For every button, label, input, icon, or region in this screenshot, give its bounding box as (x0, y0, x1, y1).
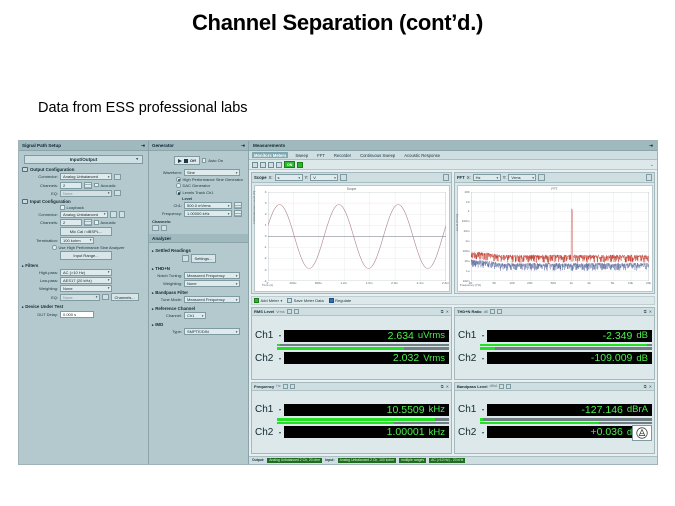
bandpass-filter-group: Bandpass Filter (152, 290, 245, 295)
fft-x-unit-select[interactable]: Hz (473, 174, 501, 181)
filters-group: Filters (22, 263, 145, 268)
weighting-select[interactable]: None (60, 285, 112, 292)
graphs-area: Scope X: s Y: V Scope Instantaneous Leve… (249, 170, 657, 296)
generator-transport: Off Auto On (152, 156, 245, 165)
fft-panel-label: FFT (457, 175, 465, 180)
levels-track-row: Levels Track Ch1 (152, 190, 245, 195)
imd-type-select[interactable]: SMPTE/DIN (184, 328, 240, 335)
imd-type-row: Type: SMPTE/DIN (152, 328, 245, 335)
loopback-row: Loopback (22, 205, 145, 210)
levels-track-checkbox[interactable] (176, 190, 181, 195)
meter-ch2-unit: Vrms (423, 353, 445, 364)
meter-row-2: Frequency Hz ⧉ ✕ Ch1 (251, 382, 655, 454)
meter-config-icon[interactable] (283, 384, 288, 389)
filter-eq-config-icon[interactable] (102, 294, 109, 301)
close-icon[interactable]: ✕ (649, 309, 652, 314)
mic-cal-row: Mic Cal / dBSPL... (22, 227, 145, 236)
fft-x-axis: 2050100 2005001k 2k5k10k 20k Frequency (… (471, 281, 649, 286)
status-input-value[interactable]: Analog Unbalanced 2 Ch, 100 kohm (338, 458, 396, 463)
meter-config-icon[interactable] (287, 309, 292, 314)
fft-settings-icon[interactable] (538, 174, 545, 181)
input-channels-row: Channels: 2 Acoustic (22, 219, 145, 226)
input-range-button[interactable]: Input Range... (60, 251, 112, 260)
scope-plot-area (268, 192, 446, 281)
meter-ch1-value: -2.349 (603, 330, 633, 342)
input-configuration-group: Input Configuration (22, 199, 145, 204)
meter-rms-level: RMS Level Vrms ⧉ ✕ Ch1 (251, 307, 452, 379)
add-icon (254, 298, 259, 303)
measurement-on-badge[interactable]: ON (284, 161, 295, 168)
input-connector-select[interactable]: Analog Unbalanced (60, 211, 108, 218)
output-eq-label: EQ: (22, 191, 58, 196)
tab-acoustic-response[interactable]: Acoustic Response (402, 152, 442, 158)
highpass-select[interactable]: AC (>10 Hz) (60, 269, 112, 276)
generator-ch1-input[interactable]: 500.0 mVrms (184, 202, 232, 209)
notch-tuning-row: Notch Tuning: Measured Frequency (152, 272, 245, 279)
mic-cal-button[interactable]: Mic Cal / dBSPL... (60, 227, 112, 236)
scope-expand-icon[interactable] (443, 174, 450, 181)
reference-channel-select[interactable]: Ch1 (184, 312, 206, 319)
scope-plot[interactable]: Scope Instantaneous Level (V) 432 10-1 -… (254, 185, 450, 292)
filter-eq-row: EQ: None Channels... (22, 293, 145, 302)
tab-continuous-sweep[interactable]: Continuous Sweep (358, 152, 397, 158)
weighting-label: Weighting: (22, 286, 58, 291)
status-ranges-value[interactable]: multiple ranges (399, 458, 426, 463)
generator-frequency-input[interactable]: 1.00000 kHz (184, 210, 232, 217)
meter-ch2-readout: 2.032 Vrms (284, 352, 449, 364)
meter-ch2-label: Ch2 (457, 352, 479, 364)
meter-settings-icon[interactable] (497, 309, 502, 314)
hp-sine-analyzer-label: Use High Performance Sine Analyzer (59, 245, 125, 250)
meter-ch1-label: Ch1 (254, 404, 276, 416)
scope-toolbar: Scope X: s Y: V (252, 173, 451, 183)
meter-ch2-bar (480, 347, 652, 350)
meter-ch2-readout: -109.009 dB (487, 352, 652, 364)
regulate-label: Regulate (335, 298, 351, 303)
settings-gear-icon[interactable] (182, 255, 189, 262)
weighting-row: Weighting: None (22, 285, 145, 292)
meter-expand-icon[interactable]: ⧉ (441, 309, 444, 314)
mode-selector[interactable]: Input/Output ▾ (24, 155, 143, 164)
tab-recorder[interactable]: Recorder (332, 152, 353, 158)
generator-channel-2-button[interactable] (161, 225, 168, 232)
meter-ch1-readout: -127.146 dBrA (487, 404, 652, 416)
waveform-label: Waveform: (152, 170, 182, 175)
output-acoustic-checkbox[interactable] (94, 183, 99, 188)
auto-on-label: Auto On (208, 158, 223, 163)
meter-ch2-bar (480, 422, 652, 425)
meters-area: Add Meter ▾ Save Meter Data Regulate (249, 296, 657, 456)
close-icon[interactable]: ✕ (649, 384, 652, 389)
filter-eq-select[interactable]: None (60, 294, 100, 301)
generator-title: Generator (152, 143, 174, 148)
meter-ch2-label: Ch2 (457, 426, 479, 438)
layout-grid-icon[interactable] (260, 162, 266, 168)
filter-channels-button[interactable]: Channels... (111, 293, 139, 302)
meter-unit-select[interactable]: dBrA (489, 384, 497, 388)
meter-channel-row: Ch2 ▾ -109.009 dB (457, 352, 652, 364)
output-channels-label: Channels: (22, 183, 58, 188)
meter-header: Frequency Hz ⧉ ✕ (252, 383, 451, 391)
meter-ch2-value: -109.009 (591, 352, 632, 364)
output-eq-select[interactable]: None (60, 190, 112, 197)
generator-ch1-label: Ch1: (152, 203, 182, 208)
meter-title: Bandpass Level (457, 384, 487, 389)
meter-ch2-dropdown-icon[interactable]: ▾ (480, 426, 486, 438)
dac-generator-radio[interactable] (176, 183, 181, 188)
meter-channel-row: Ch2 ▾ 1.00001 kHz (254, 426, 449, 438)
level-group-row: Level (152, 196, 245, 201)
layout-stack-icon[interactable] (276, 162, 282, 168)
output-icon (22, 167, 28, 172)
thdn-group: THD+N (152, 266, 245, 271)
tune-mode-label: Tune Mode: (152, 297, 182, 302)
meter-ch1-dropdown-icon[interactable]: ▾ (480, 330, 486, 342)
meter-header: Bandpass Level dBrA ⧉ ✕ (455, 383, 654, 391)
meter-ch1-value: 10.5509 (387, 404, 425, 416)
layout-split-icon[interactable] (252, 162, 258, 168)
meter-ch1-value: -127.146 (581, 404, 622, 416)
meter-unit-select[interactable]: Hz (276, 384, 280, 388)
meter-ch1-readout: -2.349 dB (487, 330, 652, 342)
slide-subtitle: Data from ESS professional labs (38, 100, 248, 116)
fft-panel: FFT X: Hz Y: Vrms FFT Level (Vrms) 10010… (454, 172, 655, 294)
status-filter-value[interactable]: AC (>10 Hz) - 20 kHz (429, 458, 465, 463)
dut-delay-input[interactable]: 0.000 s (60, 311, 94, 318)
meter-expand-icon[interactable]: ⧉ (441, 384, 444, 389)
input-connector-row: Connector: Analog Unbalanced (22, 211, 145, 218)
meter-channel-row: Ch1 ▾ -2.349 dB (457, 330, 652, 342)
signal-path-setup-panel: Signal Path Setup ⇥ Input/Output ▾ Outpu… (19, 141, 149, 464)
meter-window-controls: ⧉ ✕ (644, 384, 652, 389)
scope-x-axis-label: Time (s) (179, 283, 357, 287)
dut-delay-label: DUT Delay: (22, 312, 58, 317)
meter-channel-row: Ch1 ▾ -127.146 dBrA (457, 404, 652, 416)
filter-icon[interactable]: ⌄ (650, 162, 654, 168)
meter-channel-row: Ch2 ▾ 2.032 Vrms (254, 352, 449, 364)
meter-title: Frequency (254, 384, 274, 389)
add-meter-label: Add Meter (261, 298, 279, 303)
meter-body: Ch1 ▾ -2.349 dB (455, 316, 654, 378)
meter-ch1-value: 2.634 (388, 330, 414, 342)
fft-chart-title: FFT (458, 187, 652, 191)
meter-ch2-label: Ch2 (254, 352, 276, 364)
meter-window-controls: ⧉ ✕ (441, 309, 449, 314)
lowpass-select[interactable]: AES17 (20 kHz) (60, 277, 112, 284)
dac-generator-row: DAC Generator (152, 183, 245, 188)
auto-on-checkbox[interactable] (202, 158, 207, 163)
scope-x-unit-select[interactable]: s (275, 174, 303, 181)
meter-ch1-bar (480, 344, 652, 347)
hp-sine-generator-row: High Performance Sine Generator (152, 177, 245, 182)
scope-y-unit-select[interactable]: V (310, 174, 338, 181)
output-eq-row: EQ: None (22, 190, 145, 197)
pin-icon[interactable]: ⇥ (649, 143, 653, 149)
hp-sine-generator-radio[interactable] (176, 177, 181, 182)
filter-eq-label: EQ: (22, 295, 58, 300)
settled-settings-row: Settings... (152, 254, 245, 263)
signal-path-setup-body: Input/Output ▾ Output Configuration Conn… (19, 151, 148, 464)
measurements-tabbar: Monitors Meters Sweep FFT Recorder Conti… (249, 151, 657, 160)
termination-select[interactable]: 100 kohm (60, 237, 94, 244)
regulate-icon (329, 298, 334, 303)
meter-ch1-label: Ch1 (254, 330, 276, 342)
meters-toolbar: Add Meter ▾ Save Meter Data Regulate (251, 296, 655, 305)
tab-monitors-meters[interactable]: Monitors Meters (252, 152, 288, 158)
fft-plot[interactable]: FFT Level (Vrms) 100101 100m10m1m 100u10… (457, 185, 653, 292)
termination-label: Termination: (22, 238, 58, 243)
save-icon (287, 298, 292, 303)
signal-path-setup-header: Signal Path Setup ⇥ (19, 141, 148, 151)
scope-y-axis: 432 10-1 -2-3-4 (256, 192, 267, 281)
output-connector-select[interactable]: Analog Unbalanced (60, 173, 112, 180)
scope-panel: Scope X: s Y: V Scope Instantaneous Leve… (251, 172, 452, 294)
waveform-row: Waveform: Sine (152, 169, 245, 176)
meter-ch2-readout: +0.036 dBrA (487, 426, 652, 438)
status-bar: Output: Analog Unbalanced 2 Ch, 20 ohm I… (249, 456, 657, 464)
meter-ch2-bar (277, 422, 449, 425)
notch-tuning-select[interactable]: Measured Frequency (184, 272, 240, 279)
output-channels-stepper[interactable] (84, 182, 92, 189)
meter-ch1-dropdown-icon[interactable]: ▾ (277, 330, 283, 342)
fft-svg (471, 192, 649, 281)
highpass-label: High-pass: (22, 270, 58, 275)
meter-ch2-value: 1.00001 (387, 426, 425, 438)
meter-title: RMS Level (254, 309, 274, 314)
fft-y-label: Y: (503, 175, 507, 180)
lowpass-row: Low-pass: AES17 (20 kHz) (22, 277, 145, 284)
pin-icon[interactable]: ⇥ (241, 143, 245, 149)
generator-channel-buttons (152, 225, 245, 232)
meter-channel-row: Ch2 ▾ +0.036 dBrA (457, 426, 652, 438)
meter-channel-row: Ch1 ▾ 10.5509 kHz (254, 404, 449, 416)
regulate-button[interactable]: Regulate (329, 298, 352, 303)
input-connector-config-icon[interactable] (110, 211, 117, 218)
meter-body: Ch1 ▾ -127.146 dBrA (455, 391, 654, 453)
generator-onoff-toggle[interactable]: Off (174, 156, 200, 165)
hp-sine-analyzer-checkbox[interactable] (52, 245, 57, 250)
meter-ch2-readout: 1.00001 kHz (284, 426, 449, 438)
output-configuration-label: Output Configuration (30, 167, 74, 172)
meter-ch1-unit: uVrms (418, 330, 445, 341)
settled-settings-button[interactable]: Settings... (191, 254, 217, 263)
meter-ch2-dropdown-icon[interactable]: ▾ (480, 352, 486, 364)
output-eq-config-icon[interactable] (114, 190, 121, 197)
meter-ch2-unit: dB (636, 353, 648, 364)
measurements-title: Measurements (253, 143, 285, 149)
meter-bars (480, 418, 652, 424)
meter-ch1-label: Ch1 (457, 330, 479, 342)
play-icon (178, 159, 182, 163)
save-meter-data-label: Save Meter Data (294, 298, 324, 303)
meter-bars (277, 418, 449, 424)
meter-ch1-bar (277, 344, 449, 347)
fft-y-axis: 100101 100m10m1m 100u10u1u 100n (459, 192, 470, 281)
generator-channels-label: Channels: (152, 219, 171, 224)
generator-frequency-stepper[interactable] (234, 210, 242, 217)
meter-bars (480, 344, 652, 350)
generator-channel-1-button[interactable] (152, 225, 159, 232)
output-configuration-group: Output Configuration (22, 167, 145, 172)
meter-ch2-value: +0.036 (590, 426, 622, 438)
meter-expand-icon[interactable]: ⧉ (644, 309, 647, 314)
meter-ch1-dropdown-icon[interactable]: ▾ (277, 404, 283, 416)
scope-svg (268, 192, 446, 281)
imd-type-label: Type: (152, 329, 182, 334)
measurements-header: Measurements ⇥ (249, 141, 657, 151)
generator-frequency-row: Frequency: 1.00000 kHz (152, 210, 245, 217)
fft-expand-icon[interactable] (646, 174, 653, 181)
close-icon[interactable]: ✕ (446, 384, 449, 389)
output-acoustic-label: Acoustic (101, 183, 116, 188)
status-output-label: Output: (252, 458, 264, 462)
meter-ch1-label: Ch1 (457, 404, 479, 416)
scope-chart-title: Scope (255, 187, 449, 191)
input-connector-label: Connector: (22, 212, 58, 217)
meter-header: RMS Level Vrms ⧉ ✕ (252, 308, 451, 316)
meter-settings-icon[interactable] (290, 384, 295, 389)
meter-ch1-bar (277, 418, 449, 421)
generator-ch1-row: Ch1: 500.0 mVrms (152, 202, 245, 209)
notch-tuning-label: Notch Tuning: (152, 273, 182, 278)
input-configuration-label: Input Configuration (30, 199, 71, 204)
input-acoustic-label: Acoustic (101, 220, 116, 225)
add-meter-button[interactable]: Add Meter ▾ (254, 298, 282, 303)
analyzer-weighting-label: Weighting: (152, 281, 182, 286)
meter-ch1-readout: 2.634 uVrms (284, 330, 449, 342)
dut-delay-row: DUT Delay: 0.000 s (22, 311, 145, 318)
tab-sweep[interactable]: Sweep (293, 152, 310, 158)
level-group-label: Level (182, 196, 192, 201)
tab-fft[interactable]: FFT (315, 152, 327, 158)
meter-frequency: Frequency Hz ⧉ ✕ Ch1 (251, 382, 452, 454)
meter-settings-icon[interactable] (294, 309, 299, 314)
meter-expand-icon[interactable]: ⧉ (644, 384, 647, 389)
reference-channel-group: Reference Channel (152, 306, 245, 311)
input-acoustic-checkbox[interactable] (94, 220, 99, 225)
run-icon[interactable] (297, 162, 303, 168)
meter-row-1: RMS Level Vrms ⧉ ✕ Ch1 (251, 307, 655, 379)
meter-bandpass-level: Bandpass Level dBrA ⧉ ✕ Ch1 (454, 382, 655, 454)
analyzer-title: Analyzer (152, 236, 171, 241)
output-connector-row: Connector: Analog Unbalanced (22, 173, 145, 180)
chevron-down-icon: ▾ (280, 299, 282, 303)
imd-group: IMD (152, 322, 245, 327)
meter-unit-select[interactable]: Vrms (276, 310, 284, 314)
signal-path-setup-title: Signal Path Setup (22, 143, 61, 148)
input-icon (22, 199, 28, 204)
close-icon[interactable]: ✕ (446, 309, 449, 314)
meter-unit-select[interactable]: dB (484, 310, 488, 314)
chevron-down-icon: ▾ (136, 157, 138, 161)
slide: Channel Separation (cont’d.) Data from E… (0, 0, 675, 506)
meter-bars (277, 344, 449, 350)
generator-state-label: Off (190, 158, 196, 163)
meter-title: THD+N Ratio (457, 309, 482, 314)
meter-ch1-bar (480, 418, 652, 421)
settled-readings-group: Settled Readings (152, 248, 245, 253)
output-connector-label: Connector: (22, 174, 58, 179)
status-output-value[interactable]: Analog Unbalanced 2 Ch, 20 ohm (267, 458, 322, 463)
meter-header: THD+N Ratio dB ⧉ ✕ (455, 308, 654, 316)
measurements-toolbar: ON ⌄ (249, 160, 657, 170)
measurements-panel: Measurements ⇥ Monitors Meters Sweep FFT… (249, 141, 657, 464)
analyzer-header: Analyzer (149, 234, 248, 243)
input-connector-delete-icon[interactable] (119, 211, 126, 218)
lowpass-label: Low-pass: (22, 278, 58, 283)
generator-body: Off Auto On Waveform: Sine High Performa… (149, 151, 248, 234)
meter-ch1-unit: dB (636, 330, 648, 341)
meter-thdn-ratio: THD+N Ratio dB ⧉ ✕ Ch1 (454, 307, 655, 379)
scope-panel-label: Scope (254, 175, 267, 180)
output-channels-input[interactable]: 2 (60, 182, 82, 189)
meter-ch2-label: Ch2 (254, 426, 276, 438)
meter-config-icon[interactable] (499, 384, 504, 389)
stop-icon (184, 159, 188, 163)
waveform-select[interactable]: Sine (184, 169, 240, 176)
app-logo-badge (632, 425, 652, 441)
scope-settings-icon[interactable] (340, 174, 347, 181)
analyzer-body: Settled Readings Settings... THD+N Notch… (149, 243, 248, 464)
generator-frequency-label: Frequency: (152, 211, 182, 216)
pin-icon[interactable]: ⇥ (141, 143, 145, 149)
meter-config-icon[interactable] (490, 309, 495, 314)
hp-sine-analyzer-row: Use High Performance Sine Analyzer (22, 245, 145, 250)
input-channels-input[interactable]: 2 (60, 219, 82, 226)
meter-ch1-unit: kHz (429, 404, 445, 415)
dac-generator-label: DAC Generator (183, 183, 211, 188)
tune-mode-select[interactable]: Measured Frequency (184, 296, 240, 303)
save-meter-data-button[interactable]: Save Meter Data (287, 298, 324, 303)
fft-toolbar: FFT X: Hz Y: Vrms (455, 173, 654, 183)
input-range-row: Input Range... (22, 251, 145, 260)
tune-mode-row: Tune Mode: Measured Frequency (152, 296, 245, 303)
meter-window-controls: ⧉ ✕ (441, 384, 449, 389)
termination-row: Termination: 100 kohm (22, 237, 145, 244)
fft-x-label: X: (467, 175, 471, 180)
meter-body: Ch1 ▾ 2.634 uVrms (252, 316, 451, 378)
layout-single-icon[interactable] (268, 162, 274, 168)
device-under-test-group: Device Under Test (22, 304, 145, 309)
audio-precision-app-window: Signal Path Setup ⇥ Input/Output ▾ Outpu… (18, 140, 658, 465)
loopback-checkbox[interactable] (60, 205, 65, 210)
output-connector-config-icon[interactable] (114, 174, 121, 181)
generator-channels-row: Channels: (152, 219, 245, 224)
fft-y-unit-select[interactable]: Vrms (508, 174, 536, 181)
output-channels-row: Channels: 2 Acoustic (22, 182, 145, 189)
meter-ch1-dropdown-icon[interactable]: ▾ (480, 404, 486, 416)
levels-track-label: Levels Track Ch1 (183, 190, 214, 195)
meter-window-controls: ⧉ ✕ (644, 309, 652, 314)
input-channels-label: Channels: (22, 220, 58, 225)
generator-ch1-stepper[interactable] (234, 202, 242, 209)
meter-settings-icon[interactable] (506, 384, 511, 389)
meter-ch2-dropdown-icon[interactable]: ▾ (277, 426, 283, 438)
loopback-label: Loopback (67, 205, 84, 210)
meter-ch1-readout: 10.5509 kHz (284, 404, 449, 416)
status-input-label: Input: (325, 458, 334, 462)
meter-ch2-dropdown-icon[interactable]: ▾ (277, 352, 283, 364)
meter-ch2-unit: kHz (429, 427, 445, 438)
reference-channel-label: Channel: (152, 313, 182, 318)
highpass-row: High-pass: AC (>10 Hz) (22, 269, 145, 276)
scope-y-label: Y: (305, 175, 309, 180)
meter-ch2-value: 2.032 (393, 352, 419, 364)
meter-ch2-bar (277, 347, 449, 350)
ap-logo-icon (636, 427, 648, 439)
page-title: Channel Separation (cont’d.) (0, 10, 675, 36)
input-channels-stepper[interactable] (84, 219, 92, 226)
